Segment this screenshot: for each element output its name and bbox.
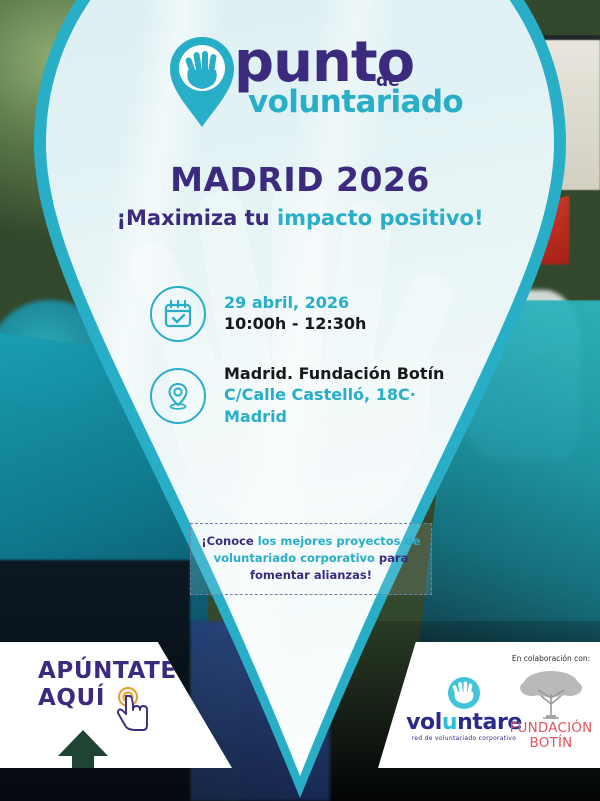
calendar-check-icon <box>150 286 206 342</box>
tap-hand-icon[interactable] <box>112 684 156 732</box>
subtitle-part-2: impacto positivo! <box>277 206 484 230</box>
event-date-text: 29 abril, 2026 10:00h - 12:30h <box>224 293 366 335</box>
cta-line-2: AQUÍ <box>38 685 105 711</box>
event-date: 29 abril, 2026 <box>224 293 366 313</box>
page-subtitle: ¡Maximiza tu impacto positivo! <box>0 206 600 230</box>
event-venue: Madrid. Fundación Botín <box>224 364 480 384</box>
callout-part-1: ¡Conoce <box>201 534 257 548</box>
event-date-row: 29 abril, 2026 10:00h - 12:30h <box>150 286 480 342</box>
voluntare-name-u: u <box>442 710 457 735</box>
event-address: C/Calle Castelló, 18C· Madrid <box>224 384 480 428</box>
event-time: 10:00h - 12:30h <box>224 313 366 335</box>
collaborator-block: En colaboración con: <box>506 654 596 751</box>
subtitle-part-1: ¡Maximiza tu <box>116 206 276 230</box>
collaborator-name-line-2: BOTÍN <box>506 736 596 751</box>
callout-box: ¡Conoce los mejores proyectos de volunta… <box>190 523 432 595</box>
voluntare-name-v: vol <box>406 710 442 735</box>
event-details: 29 abril, 2026 10:00h - 12:30h Madrid. F… <box>150 286 480 450</box>
poster: gos bos <box>0 0 600 801</box>
brand-wordmark: punto de voluntariado <box>234 33 434 129</box>
map-pin-icon <box>150 368 206 424</box>
cta-line-1: APÚNTATE <box>38 658 177 684</box>
event-location-text: Madrid. Fundación Botín C/Calle Castelló… <box>224 364 480 428</box>
brand-logo: punto de voluntariado <box>168 33 433 131</box>
location-pin-hand-icon <box>168 35 236 129</box>
tree-icon <box>516 668 586 720</box>
collaborator-name-line-1: FUNDACIÓN <box>506 721 596 736</box>
hand-circle-icon <box>447 676 481 710</box>
collaborator-lead: En colaboración con: <box>506 654 596 664</box>
event-location-row: Madrid. Fundación Botín C/Calle Castelló… <box>150 364 480 428</box>
page-title: MADRID 2026 <box>0 160 600 199</box>
brand-word-voluntariado: voluntariado <box>248 87 463 118</box>
sponsors-card: voluntare red de voluntariado corporativ… <box>378 642 600 768</box>
